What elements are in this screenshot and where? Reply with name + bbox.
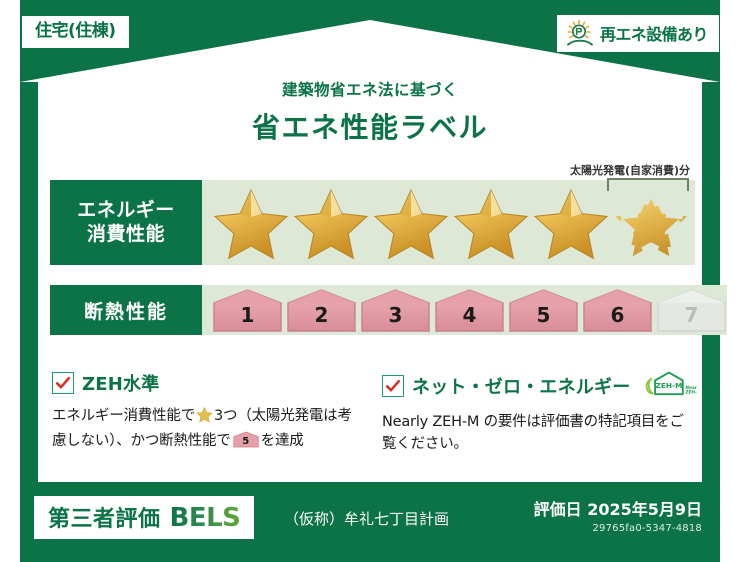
label-footer: 第三者評価 BELS （仮称）牟礼七丁目計画 評価日 2025年5月9日 297… <box>20 482 720 562</box>
bels-badge: 第三者評価 BELS <box>34 496 254 539</box>
title-subtitle: 建築物省エネ法に基づく <box>0 78 740 100</box>
energy-performance-label: 住宅(住棟) 再エネ設備あり <box>0 0 740 562</box>
net-zero-heading: ネット・ゼロ・エネルギー ZEH-M Nearly ZEH-M <box>382 370 697 402</box>
svg-text:ZEH-M: ZEH-M <box>656 381 683 390</box>
star-filled-1 <box>212 186 290 260</box>
renewable-energy-badge: 再エネ設備あり <box>557 15 719 52</box>
insulation-header-label: 断熱性能 <box>84 297 168 324</box>
star-filled-3 <box>372 186 450 260</box>
star-filled-4 <box>452 186 530 260</box>
zeh-standard-description: エネルギー消費性能で3つ（太陽光発電は考慮しない）、かつ断熱性能で5を達成 <box>52 405 362 453</box>
checkmark-icon-zeh <box>52 372 74 394</box>
insulation-step-3-label: 3 <box>360 288 431 333</box>
inline-star-icon <box>196 411 213 427</box>
insulation-step-1-label: 1 <box>212 288 283 333</box>
house-type-label: 住宅(住棟) <box>35 21 116 41</box>
zeh-desc-part1: エネルギー消費性能で <box>52 408 195 424</box>
renewable-badge-label: 再エネ設備あり <box>600 21 708 45</box>
zeh-desc-part3: を達成 <box>261 433 304 449</box>
inline-house-level: 5 <box>233 431 259 448</box>
insulation-step-4: 4 <box>434 288 505 333</box>
house-type-badge: 住宅(住棟) <box>22 16 129 48</box>
energy-row-body: 太陽光発電(自家消費)分 <box>202 180 695 265</box>
star-filled-2 <box>292 186 370 260</box>
insulation-step-5-label: 5 <box>508 288 579 333</box>
insulation-step-7-label: 7 <box>656 288 727 333</box>
energy-performance-row: エネルギー 消費性能 太陽光発電(自家消費)分 <box>50 180 695 265</box>
insulation-step-6: 6 <box>582 288 653 333</box>
evaluation-date: 評価日 2025年5月9日 <box>534 496 702 520</box>
zeh-standard-heading: ZEH水準 <box>52 370 362 396</box>
label-title-block: 建築物省エネ法に基づく 省エネ性能ラベル <box>0 78 740 146</box>
solar-annotation-text: 太陽光発電(自家消費)分 <box>570 162 690 178</box>
insulation-scale: 1 2 3 4 5 <box>212 288 727 333</box>
star-rating <box>208 186 690 260</box>
checkmark-icon-netzero <box>382 375 404 397</box>
title-main: 省エネ性能ラベル <box>0 106 740 146</box>
zeh-standard-title: ZEH水準 <box>82 370 159 396</box>
insulation-row-header: 断熱性能 <box>50 285 202 335</box>
bels-jp-label: 第三者評価 <box>48 501 161 533</box>
star-filled-5 <box>532 186 610 260</box>
insulation-step-1: 1 <box>212 288 283 333</box>
net-zero-description: Nearly ZEH-M の要件は評価書の特記項目をご覧ください。 <box>382 411 697 456</box>
insulation-step-7: 7 <box>656 288 727 333</box>
solar-annotation-bracket <box>607 178 689 191</box>
evaluation-info: 評価日 2025年5月9日 29765fa0-5347-4818 <box>534 496 702 534</box>
insulation-step-2: 2 <box>286 288 357 333</box>
svg-text:ZEH-M: ZEH-M <box>686 389 697 395</box>
energy-header-line1: エネルギー <box>77 199 175 223</box>
insulation-step-6-label: 6 <box>582 288 653 333</box>
energy-header-line2: 消費性能 <box>87 223 165 247</box>
zeh-standard-block: ZEH水準 エネルギー消費性能で3つ（太陽光発電は考慮しない）、かつ断熱性能で5… <box>52 370 362 453</box>
inline-house-icon: 5 <box>233 431 259 448</box>
insulation-performance-row: 断熱性能 1 2 3 4 <box>50 285 695 335</box>
energy-row-header: エネルギー 消費性能 <box>50 180 202 265</box>
net-zero-energy-block: ネット・ゼロ・エネルギー ZEH-M Nearly ZEH-M Nearly Z… <box>382 370 697 456</box>
net-zero-title: ネット・ゼロ・エネルギー <box>412 373 630 399</box>
bels-en-label: BELS <box>170 503 241 533</box>
insulation-step-4-label: 4 <box>434 288 505 333</box>
insulation-row-body: 1 2 3 4 5 <box>202 285 727 335</box>
zeh-m-logo-icon: ZEH-M Nearly ZEH-M <box>643 370 697 402</box>
zeh-star-count: 3つ <box>214 408 237 424</box>
insulation-step-5: 5 <box>508 288 579 333</box>
insulation-step-3: 3 <box>360 288 431 333</box>
sun-energy-icon <box>565 19 595 47</box>
star-outline-solar-6 <box>612 186 690 260</box>
project-name: （仮称）牟礼七丁目計画 <box>284 508 449 529</box>
evaluation-id: 29765fa0-5347-4818 <box>534 523 702 534</box>
insulation-step-2-label: 2 <box>286 288 357 333</box>
